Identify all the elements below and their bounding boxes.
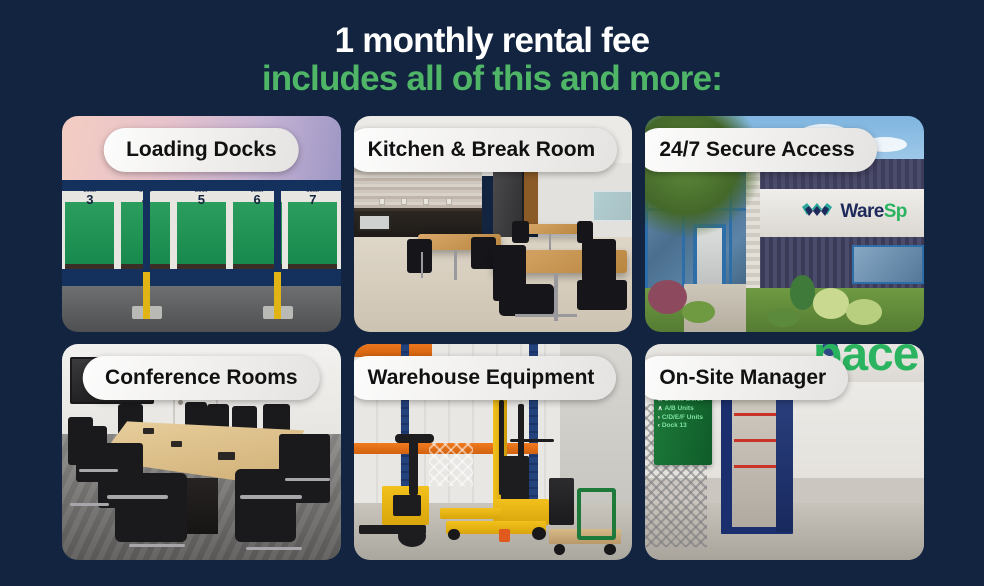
- stacker-wheel: [448, 529, 459, 540]
- stacker-backrest: [501, 456, 529, 504]
- heading-line-1: 1 monthly rental fee: [0, 22, 984, 60]
- waste-bin: [549, 478, 574, 526]
- pallet-jack-tiller: [409, 439, 417, 495]
- dock-sign-number: 5: [198, 193, 205, 206]
- dock-sign: DOCK 5: [177, 188, 226, 205]
- dock-number-signs: DOCK 3 DOCK 4 DOCK 5 DOCK 6 DOCK 7: [62, 188, 341, 205]
- table-pedestal: [185, 478, 218, 534]
- page-heading: 1 monthly rental fee includes all of thi…: [0, 0, 984, 98]
- chair-armrest: [79, 469, 118, 472]
- dock-sign-number: 6: [253, 193, 260, 206]
- feature-card-on-site-manager[interactable]: pace ∧ Docks 8/9/10 ∧ A/B Units › C/D/E/…: [645, 344, 924, 560]
- dock-bay-row: [62, 202, 341, 271]
- chair-armrest: [285, 478, 330, 481]
- card-label-kitchen-break-room[interactable]: Kitchen & Break Room: [354, 128, 618, 172]
- interior-rack-beam: [734, 413, 779, 416]
- storage-unit-interior: [732, 398, 782, 528]
- wayfinding-row: › C/D/E/F Units: [658, 414, 709, 421]
- microwave: [358, 214, 391, 231]
- chair-seat: [499, 284, 555, 316]
- chair: [407, 239, 432, 274]
- wall-outlet: [446, 198, 452, 205]
- dock-sign-number: 3: [86, 193, 93, 206]
- warespace-logo-mark: [801, 202, 835, 221]
- feature-card-conference-rooms[interactable]: Conference Rooms: [62, 344, 341, 560]
- pallet-jack-panel: [393, 495, 421, 517]
- card-label-secure-access[interactable]: 24/7 Secure Access: [645, 128, 876, 172]
- stacker-straddle-leg: [446, 521, 546, 534]
- bollard-yellow-cap: [143, 272, 150, 319]
- bollard: [143, 180, 150, 318]
- wayfinding-arrow-icon: ∧: [658, 405, 663, 412]
- bollard-yellow-cap: [274, 272, 281, 319]
- chair-base: [515, 314, 576, 317]
- chair-armrest: [107, 495, 168, 499]
- platform-cart-handle: [577, 488, 616, 540]
- chair: [577, 280, 627, 310]
- wayfinding-label: C/D/E/F Units: [662, 414, 703, 421]
- card-label-on-site-manager[interactable]: On-Site Manager: [645, 356, 848, 400]
- wood-door-frame: [524, 167, 538, 223]
- pallet-rack-beam: [354, 344, 432, 357]
- warespace-logo-text: WareSp: [840, 201, 906, 223]
- cart-wheel: [604, 544, 615, 555]
- dock-bay: [288, 202, 337, 271]
- warespace-logo: WareSp: [801, 197, 906, 227]
- logo-text-ware: Ware: [840, 201, 883, 222]
- chair-base: [70, 503, 109, 506]
- table-leg: [454, 250, 457, 280]
- wayfinding-sign: ∧ Docks 8/9/10 ∧ A/B Units › C/D/E/F Uni…: [654, 391, 713, 464]
- chair-leg: [421, 252, 423, 278]
- door-knob: [178, 400, 183, 405]
- dock-sign: DOCK 3: [65, 188, 114, 205]
- wall-outlet: [401, 198, 407, 205]
- stacker-fork: [440, 508, 501, 519]
- dock-bay: [177, 202, 226, 271]
- wayfinding-label: A/B Units: [664, 405, 693, 412]
- card-label-conference-rooms[interactable]: Conference Rooms: [83, 356, 320, 400]
- wayfinding-row: ‹ Dock 13: [658, 422, 709, 429]
- chair-base: [246, 547, 302, 550]
- stacker-foot-guard: [499, 529, 510, 542]
- feature-card-kitchen-break-room[interactable]: Kitchen & Break Room: [354, 116, 633, 332]
- card-label-loading-docks[interactable]: Loading Docks: [104, 128, 299, 172]
- shrub: [768, 308, 799, 327]
- glass-partition: [593, 191, 632, 221]
- wayfinding-arrow-icon: ›: [658, 414, 660, 421]
- feature-card-secure-access[interactable]: WareSp 24/7 Secure Access: [645, 116, 924, 332]
- wayfinding-label: Dock 13: [662, 422, 687, 429]
- bollard: [274, 180, 281, 318]
- feature-card-warehouse-equipment[interactable]: Warehouse Equipment: [354, 344, 633, 560]
- logo-text-sp: Sp: [884, 201, 907, 222]
- flowering-shrub: [813, 288, 849, 318]
- wayfinding-arrow-icon: ‹: [658, 422, 660, 429]
- dock-bay: [65, 202, 114, 271]
- table-power-port: [171, 441, 182, 447]
- dining-table: [521, 224, 582, 235]
- shrub: [682, 301, 715, 323]
- chair: [512, 221, 529, 243]
- asphalt-ground: [62, 286, 341, 331]
- chair: [115, 473, 187, 542]
- dock-sign: DOCK 7: [288, 188, 337, 205]
- building-window: [852, 245, 924, 284]
- feature-card-loading-docks[interactable]: DOCK 3 DOCK 4 DOCK 5 DOCK 6 DOCK 7: [62, 116, 341, 332]
- feature-card-grid: DOCK 3 DOCK 4 DOCK 5 DOCK 6 DOCK 7: [0, 98, 984, 586]
- wall-outlet: [379, 198, 385, 205]
- pallet-jack-wheel: [398, 525, 426, 547]
- table-power-port: [218, 452, 235, 461]
- wayfinding-row: ∧ A/B Units: [658, 405, 709, 412]
- stacker-wheel: [532, 527, 546, 540]
- interior-rack-beam: [734, 439, 779, 442]
- table-power-port: [143, 428, 154, 434]
- card-label-warehouse-equipment[interactable]: Warehouse Equipment: [354, 356, 617, 400]
- interior-rack-beam: [734, 465, 779, 468]
- pallet-jack-handle: [395, 434, 434, 443]
- wall-outlet: [423, 198, 429, 205]
- open-door-panel: [776, 393, 793, 531]
- dock-sign-number: 7: [309, 193, 316, 206]
- safety-mesh-panel: [429, 443, 474, 486]
- stacker-handle: [510, 439, 555, 442]
- chair-armrest: [240, 495, 301, 499]
- heading-line-2: includes all of this and more:: [0, 60, 984, 98]
